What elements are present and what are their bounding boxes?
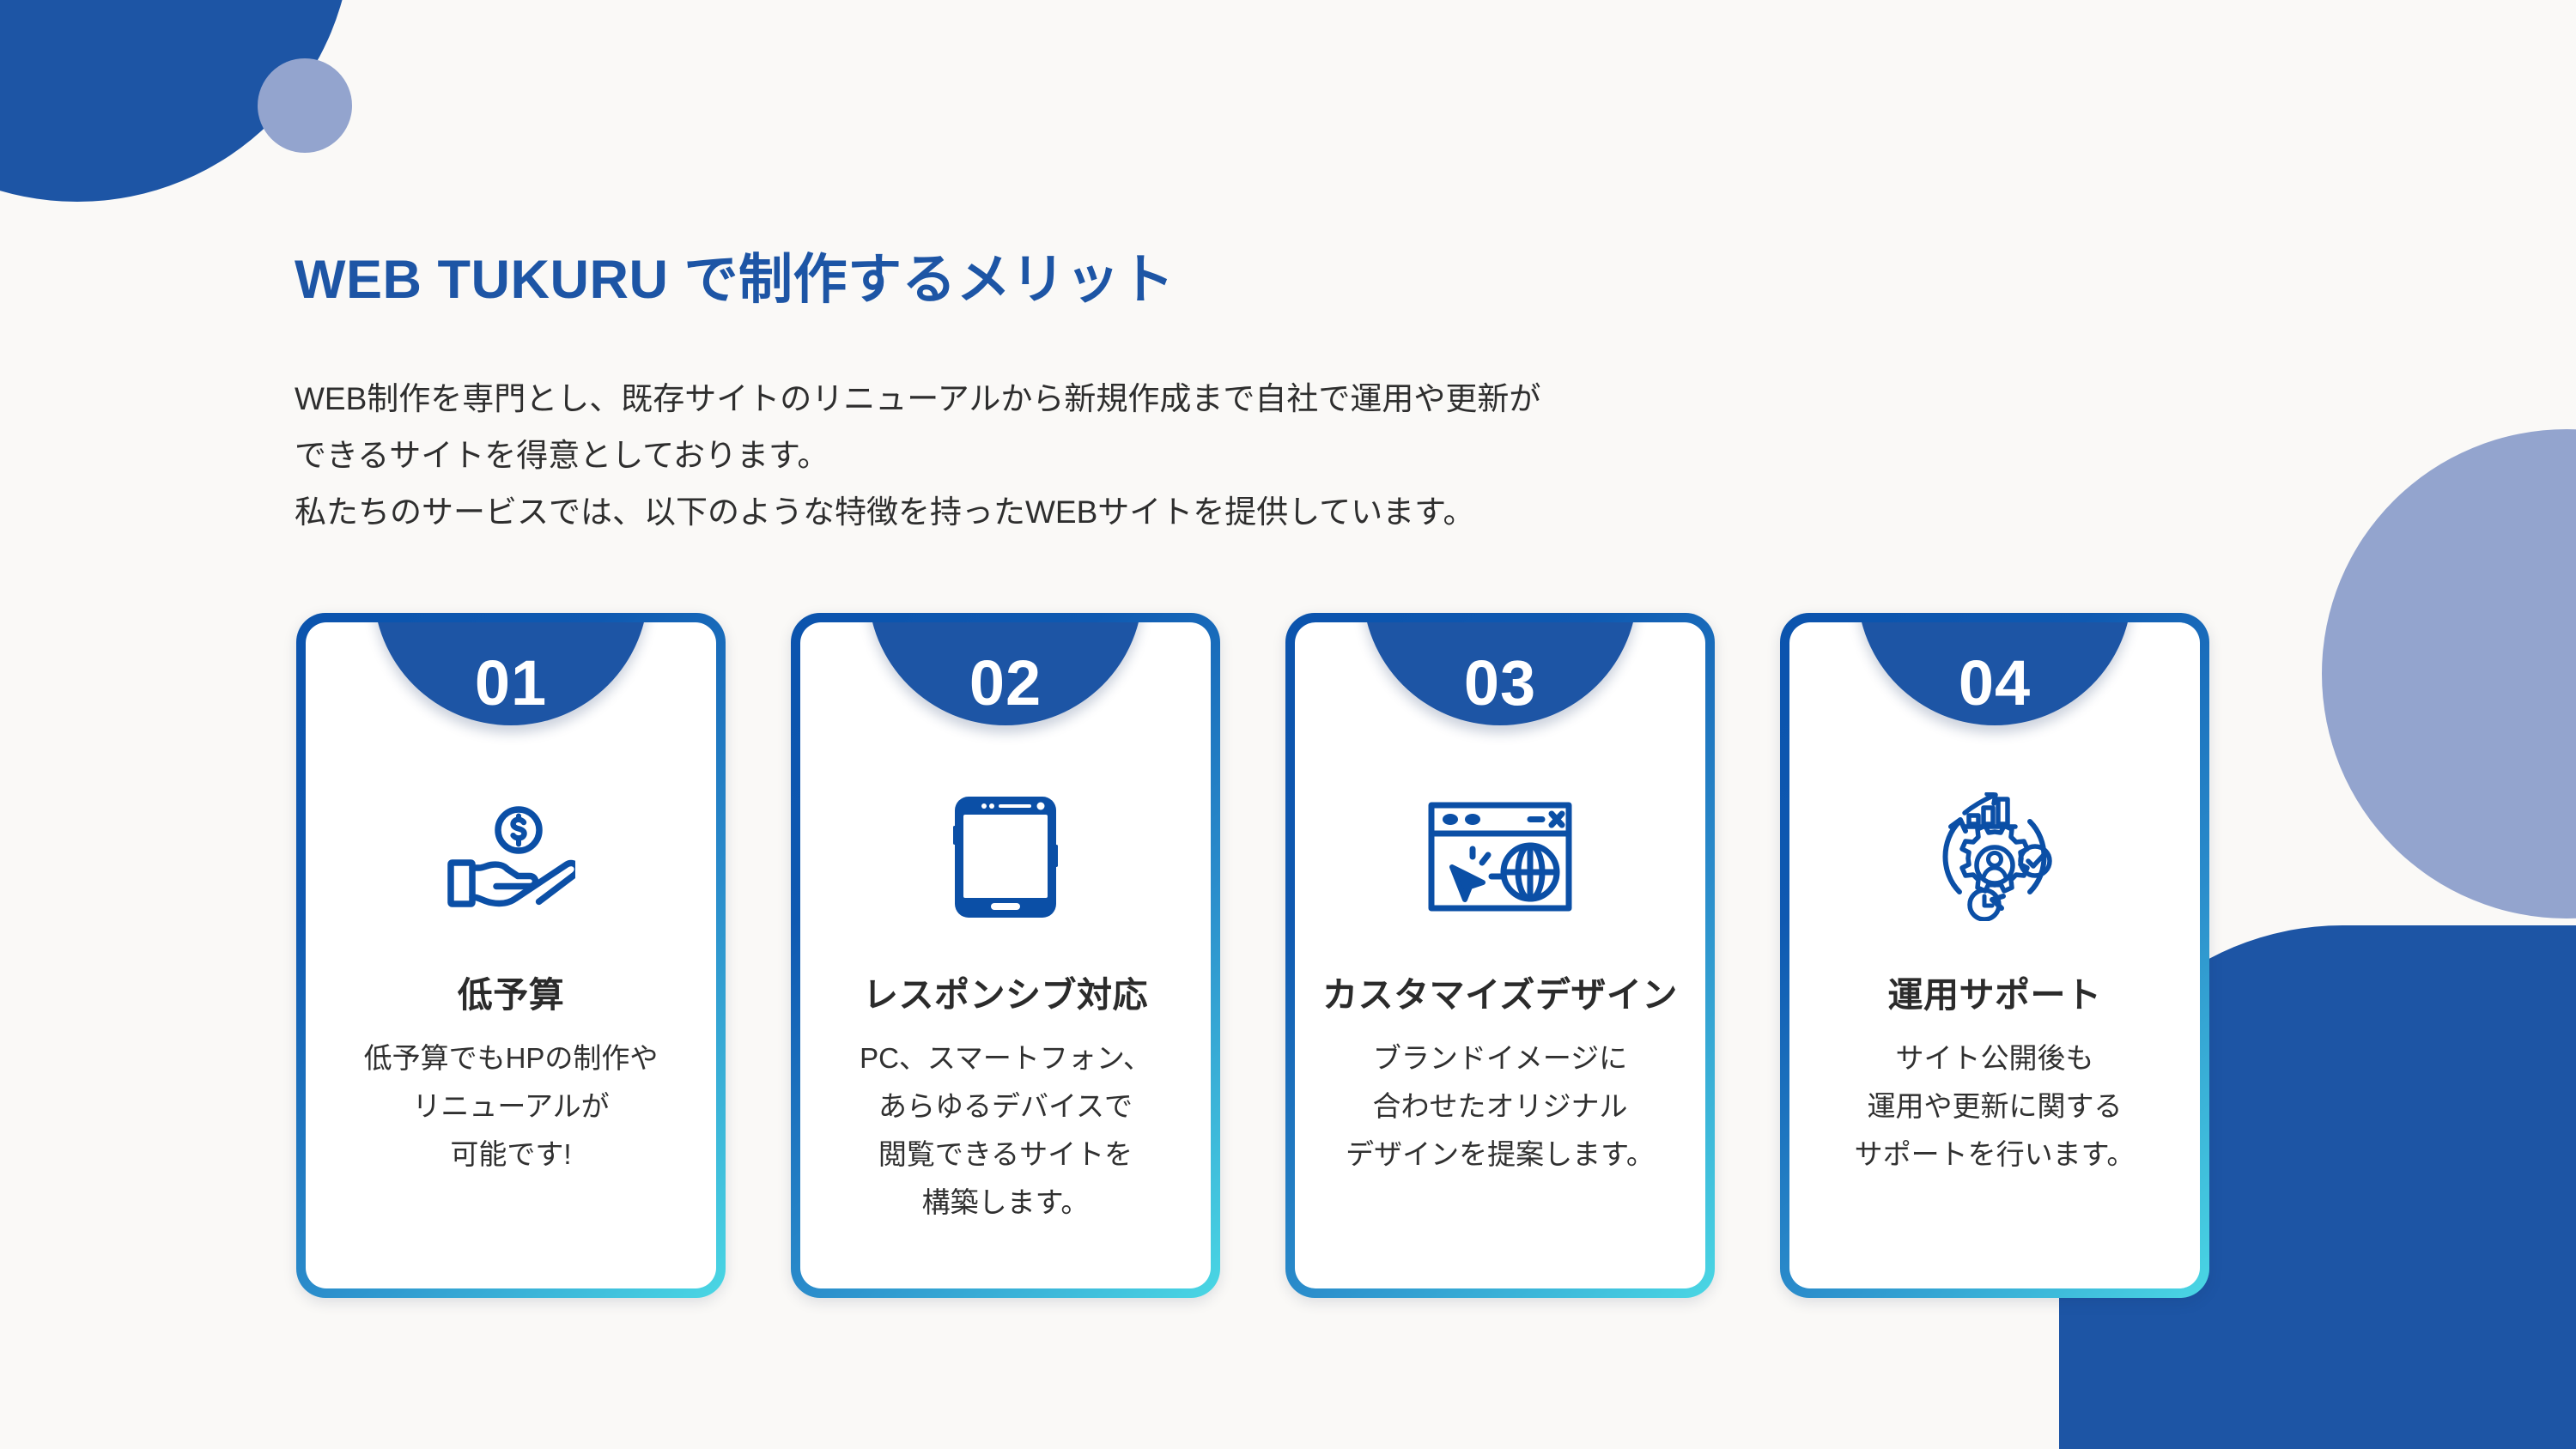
card-title: 低予算 xyxy=(306,966,716,1017)
intro-paragraph: WEB制作を専門とし、既存サイトのリニューアルから新規作成まで自社で運用や更新が… xyxy=(295,371,1540,541)
card-number-badge: 04 xyxy=(1857,622,2132,725)
card-description: PC、スマートフォン、 あらゆるデバイスで 閲覧できるサイトを 構築します。 xyxy=(816,1034,1195,1227)
slide-content: WEB TUKURU で制作するメリット WEB制作を専門とし、既存サイトのリニ… xyxy=(0,0,2576,1449)
card-gradient-border: 03 xyxy=(1285,613,1715,1298)
card-number-badge: 02 xyxy=(868,622,1143,725)
browser-globe-cursor-icon xyxy=(1295,775,1705,938)
card-title: 運用サポート xyxy=(1789,966,2200,1017)
hand-holding-coin-icon xyxy=(306,775,716,938)
page-title: WEB TUKURU で制作するメリット xyxy=(295,236,1175,314)
card-description: ブランドイメージに 合わせたオリジナル デザインを提案します。 xyxy=(1310,1034,1690,1179)
card-gradient-border: 04 xyxy=(1780,613,2209,1298)
card-body: 02 xyxy=(800,622,1211,1288)
card-number-label: 03 xyxy=(1464,652,1536,715)
gear-user-growth-icon xyxy=(1789,775,2200,938)
card-gradient-border: 01 低予算 低予算でもHPの制作や リニューアルが 可能 xyxy=(296,613,726,1298)
card-body: 04 xyxy=(1789,622,2200,1288)
card-body: 03 xyxy=(1295,622,1705,1288)
benefit-card-02[interactable]: 02 xyxy=(791,613,1220,1298)
card-description: サイト公開後も 運用や更新に関する サポートを行います。 xyxy=(1805,1034,2184,1179)
benefit-card-list: 01 低予算 低予算でもHPの制作や リニューアルが 可能 xyxy=(296,613,2209,1298)
smartphone-icon xyxy=(800,775,1211,938)
card-number-badge: 01 xyxy=(374,622,648,725)
card-title: レスポンシブ対応 xyxy=(800,966,1211,1017)
card-number-label: 04 xyxy=(1959,652,2031,715)
card-number-label: 02 xyxy=(969,652,1042,715)
benefit-card-04[interactable]: 04 xyxy=(1780,613,2209,1298)
benefit-card-01[interactable]: 01 低予算 低予算でもHPの制作や リニューアルが 可能 xyxy=(296,613,726,1298)
card-number-label: 01 xyxy=(475,652,547,715)
benefit-card-03[interactable]: 03 xyxy=(1285,613,1715,1298)
card-title: カスタマイズデザイン xyxy=(1295,966,1705,1017)
card-description: 低予算でもHPの制作や リニューアルが 可能です! xyxy=(321,1034,701,1179)
card-gradient-border: 02 xyxy=(791,613,1220,1298)
card-body: 01 低予算 低予算でもHPの制作や リニューアルが 可能 xyxy=(306,622,716,1288)
card-number-badge: 03 xyxy=(1363,622,1637,725)
